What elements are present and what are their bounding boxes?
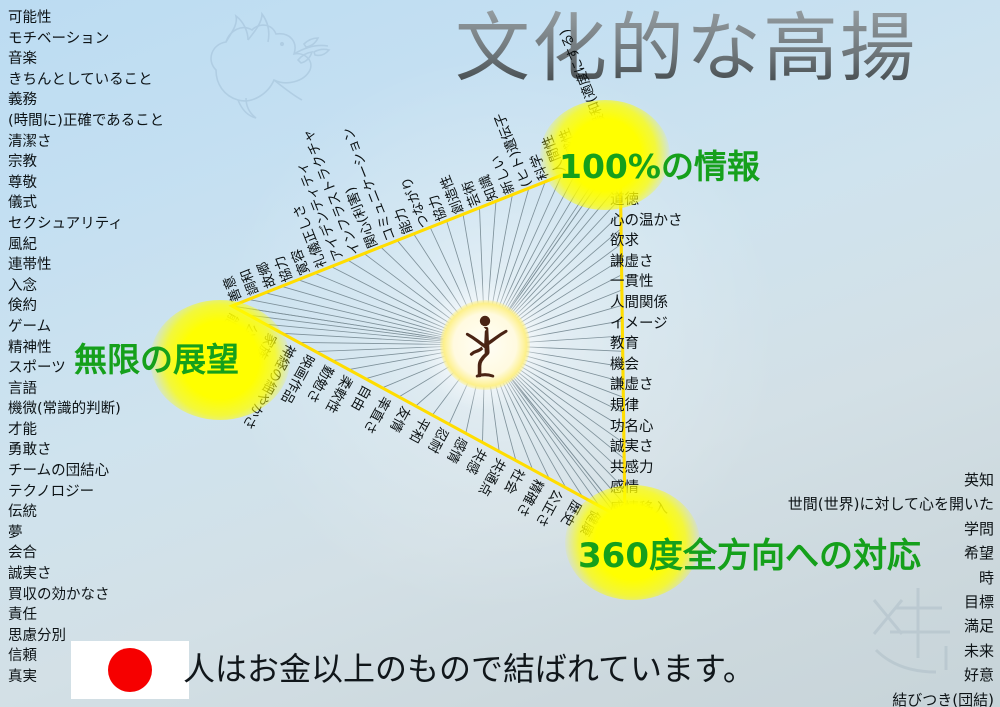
tagline: 人はお金以上のもので結ばれています。 bbox=[183, 640, 755, 698]
left-value-item: 清潔さ bbox=[8, 132, 164, 153]
right-value-item: 謙虚さ bbox=[610, 252, 683, 273]
flag-disc bbox=[108, 648, 152, 692]
left-value-item: 会合 bbox=[8, 543, 164, 564]
far-right-value-item: 好意 bbox=[788, 663, 994, 687]
right-value-item: 機会 bbox=[610, 355, 683, 376]
right-value-item: 謙虚さ bbox=[610, 375, 683, 396]
left-value-item: 儀式 bbox=[8, 193, 164, 214]
left-value-item: 伝統 bbox=[8, 502, 164, 523]
far-right-value-item: 目標 bbox=[788, 590, 994, 614]
right-value-item: 人間関係 bbox=[610, 293, 683, 314]
left-value-item: 宗教 bbox=[8, 152, 164, 173]
right-value-list: 道徳心の温かさ欲求謙虚さ一貫性人間関係イメージ教育機会謙虚さ規律功名心誠実さ共感… bbox=[610, 190, 683, 520]
left-value-item: 才能 bbox=[8, 420, 164, 441]
left-value-item: 責任 bbox=[8, 605, 164, 626]
right-value-item: 心の温かさ bbox=[610, 211, 683, 232]
left-value-item: 義務 bbox=[8, 90, 164, 111]
left-value-item: モチベーション bbox=[8, 29, 164, 50]
far-right-value-item: 結びつき(団結) bbox=[788, 688, 994, 707]
right-value-item: 規律 bbox=[610, 396, 683, 417]
left-value-item: 入念 bbox=[8, 276, 164, 297]
far-right-value-item: 未来 bbox=[788, 639, 994, 663]
left-value-item: 誠実さ bbox=[8, 564, 164, 585]
far-right-value-list: 英知世間(世界)に対して心を開いた学問希望時目標満足未来好意結びつき(団結) bbox=[788, 468, 994, 707]
right-value-item: 欲求 bbox=[610, 231, 683, 252]
left-value-item: 風紀 bbox=[8, 235, 164, 256]
left-value-item: きちんとしていること bbox=[8, 70, 164, 91]
slide-canvas: 文化的な高揚 bbox=[0, 0, 1000, 707]
left-value-item: 倹約 bbox=[8, 296, 164, 317]
right-value-item: イメージ bbox=[610, 314, 683, 335]
left-value-item: 可能性 bbox=[8, 8, 164, 29]
left-value-item: 機微(常識的判断) bbox=[8, 399, 164, 420]
left-value-item: (時間に)正確であること bbox=[8, 111, 164, 132]
left-value-item: テクノロジー bbox=[8, 482, 164, 503]
left-value-item: 連帯性 bbox=[8, 255, 164, 276]
far-right-value-item: 英知 bbox=[788, 468, 994, 492]
far-right-value-item: 満足 bbox=[788, 614, 994, 638]
left-value-item: 勇敢さ bbox=[8, 440, 164, 461]
right-value-item: 一貫性 bbox=[610, 272, 683, 293]
right-value-item: 教育 bbox=[610, 334, 683, 355]
right-value-item: 功名心 bbox=[610, 417, 683, 438]
left-value-item: 言語 bbox=[8, 379, 164, 400]
meditating-person-icon bbox=[437, 297, 533, 393]
left-value-item: 買収の効かなさ bbox=[8, 585, 164, 606]
right-value-item: 誠実さ bbox=[610, 437, 683, 458]
left-value-item: 尊敬 bbox=[8, 173, 164, 194]
left-value-item: 音楽 bbox=[8, 49, 164, 70]
far-right-value-item: 世間(世界)に対して心を開いた bbox=[788, 492, 994, 516]
left-value-item: 夢 bbox=[8, 523, 164, 544]
japan-flag-icon bbox=[71, 641, 189, 699]
left-value-item: セクシュアリティ bbox=[8, 214, 164, 235]
right-value-item: 共感力 bbox=[610, 458, 683, 479]
callout-top-right: 100%の情報 bbox=[559, 140, 760, 188]
left-value-item: チームの団結心 bbox=[8, 461, 164, 482]
callout-left: 無限の展望 bbox=[74, 333, 239, 381]
callout-bottom-right: 360度全方向への対応 bbox=[578, 528, 921, 577]
